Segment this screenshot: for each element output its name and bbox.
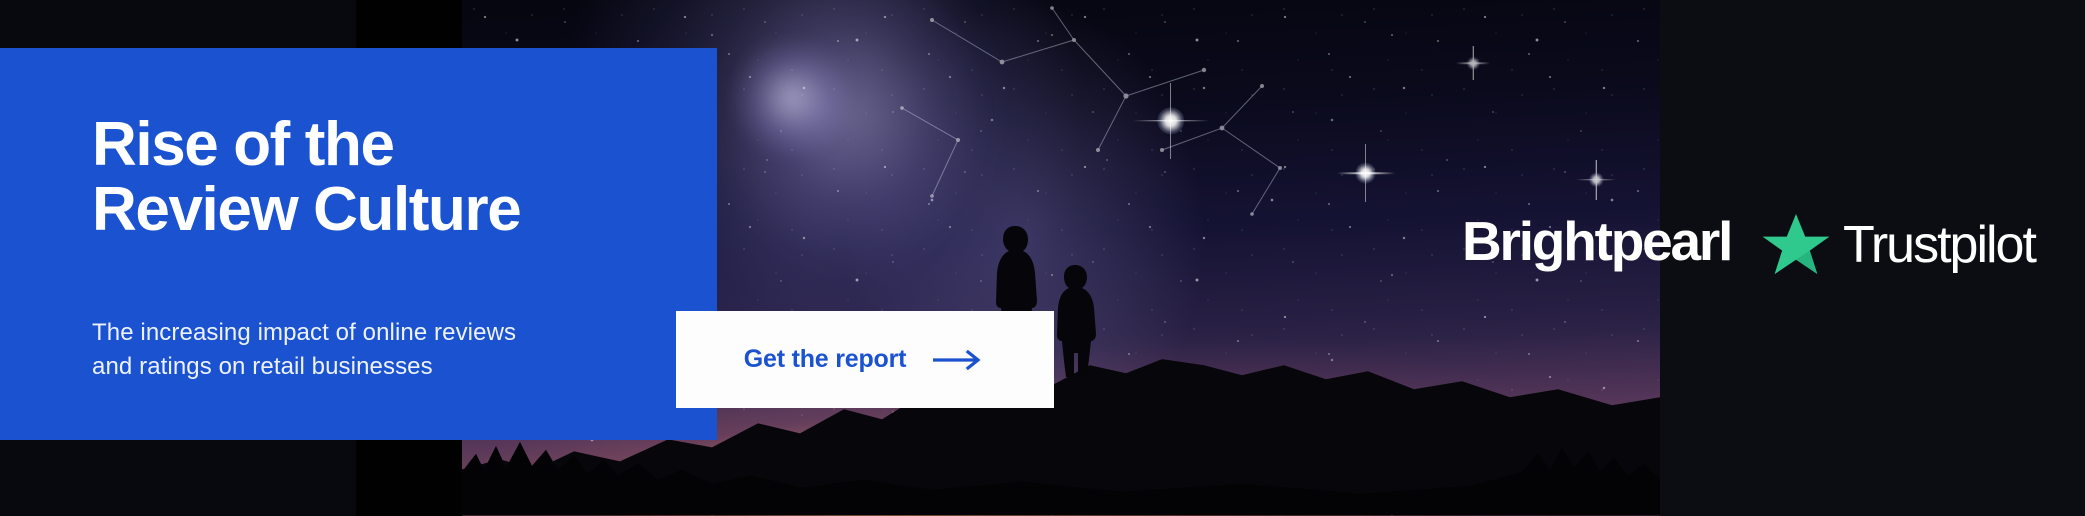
arrow-right-icon [932,350,986,370]
person-silhouette-right [1055,265,1097,377]
cta-label: Get the report [744,345,907,374]
promo-banner: Rise of the Review Culture The increasin… [0,0,2085,516]
brightpearl-logo: Brightpearl [1462,214,1731,269]
trustpilot-star-icon [1762,212,1830,278]
trustpilot-wordmark: Trustpilot [1843,219,2035,271]
get-the-report-button[interactable]: Get the report [676,311,1054,408]
page-subtitle: The increasing impact of online reviews … [92,316,652,384]
page-title: Rise of the Review Culture [92,112,712,242]
trustpilot-logo: Trustpilot [1762,212,2035,278]
